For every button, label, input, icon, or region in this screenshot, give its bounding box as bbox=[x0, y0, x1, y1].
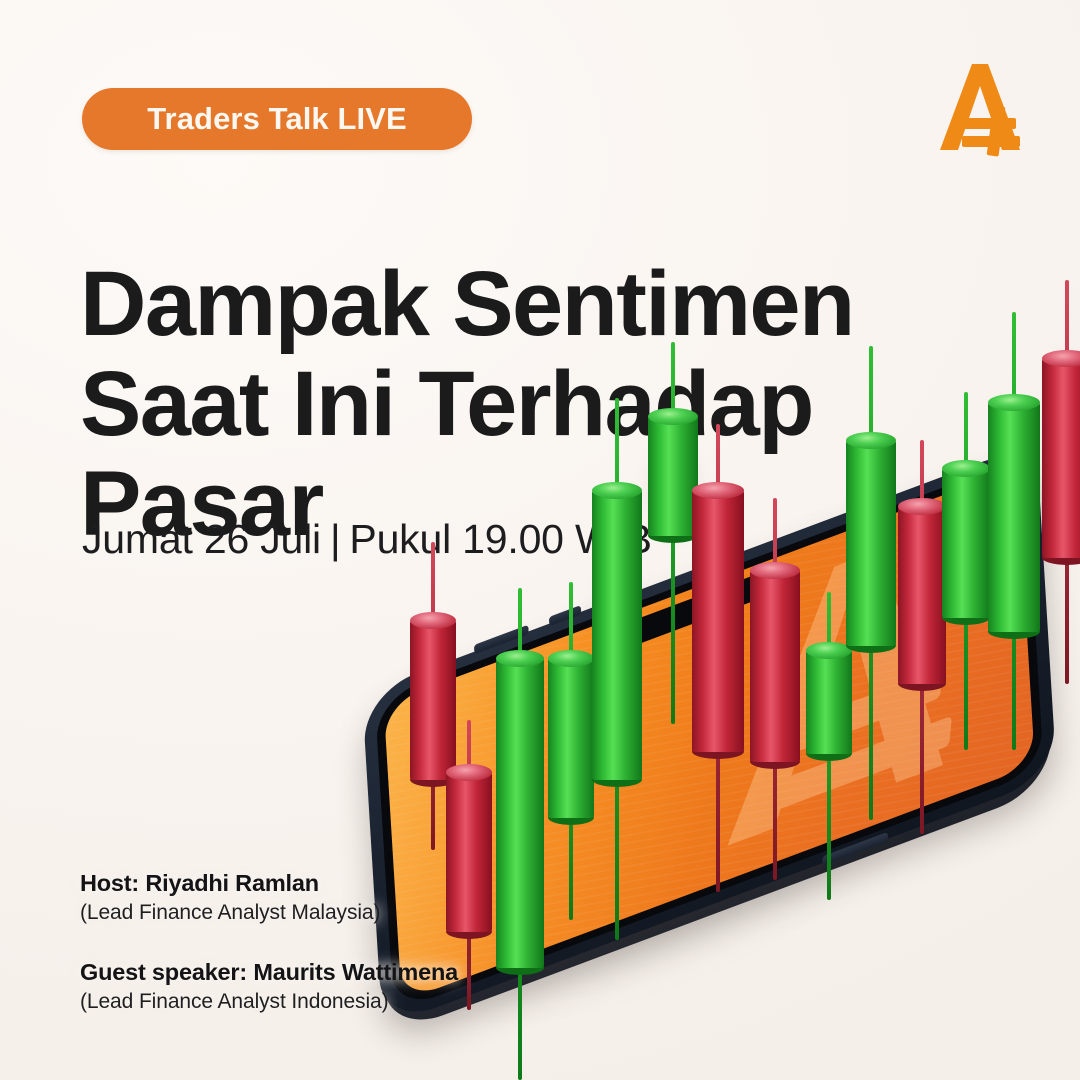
candlestick-side bbox=[988, 402, 1040, 632]
candlestick-body bbox=[548, 658, 594, 818]
candlestick-body bbox=[846, 440, 896, 646]
candlestick-cap bbox=[898, 498, 946, 515]
live-badge-label: Traders Talk LIVE bbox=[147, 101, 407, 137]
candlestick-cap bbox=[496, 650, 544, 667]
candlestick-body bbox=[988, 402, 1040, 632]
credit-role: (Lead Finance Analyst Indonesia) bbox=[80, 988, 458, 1016]
credit-host: Host: Riyadhi Ramlan (Lead Finance Analy… bbox=[80, 868, 458, 927]
credit-name: Guest speaker: Maurits Wattimena bbox=[80, 957, 458, 987]
candlestick-cap bbox=[592, 482, 642, 499]
candlestick-body bbox=[750, 570, 800, 762]
candlestick-side bbox=[410, 620, 456, 780]
candlestick-side bbox=[942, 468, 990, 618]
candlestick-cap bbox=[446, 764, 492, 781]
candlestick-body bbox=[1042, 358, 1080, 558]
candlestick-cap bbox=[548, 650, 594, 667]
candlestick-body bbox=[806, 650, 852, 754]
candlestick-side bbox=[496, 658, 544, 968]
credit-name: Host: Riyadhi Ramlan bbox=[80, 868, 458, 898]
candlestick-side bbox=[648, 416, 698, 536]
candlestick-side bbox=[846, 440, 896, 646]
candlestick-side bbox=[1042, 358, 1080, 558]
candlestick-body bbox=[898, 506, 946, 684]
candlestick-body bbox=[410, 620, 456, 780]
candlestick-side bbox=[750, 570, 800, 762]
promo-poster: Traders Talk LIVE Dampak Sentimen Saat I… bbox=[0, 0, 1080, 1080]
candlestick-side bbox=[898, 506, 946, 684]
candlestick-side bbox=[692, 490, 744, 752]
candlestick-body bbox=[692, 490, 744, 752]
candlestick-body bbox=[592, 490, 642, 780]
candlestick-cap bbox=[942, 460, 990, 477]
candlestick-cap bbox=[846, 432, 896, 449]
candlestick-cap bbox=[750, 562, 800, 579]
candlestick-body bbox=[648, 416, 698, 536]
schedule-date: Jumat 26 Juli bbox=[82, 516, 321, 562]
credit-role: (Lead Finance Analyst Malaysia) bbox=[80, 899, 458, 927]
candlestick-body bbox=[496, 658, 544, 968]
candlestick-side bbox=[806, 650, 852, 754]
candlestick-cap bbox=[648, 408, 698, 425]
credit-guest-speaker: Guest speaker: Maurits Wattimena (Lead F… bbox=[80, 957, 458, 1016]
candlestick-side bbox=[592, 490, 642, 780]
candlestick-cap bbox=[988, 394, 1040, 411]
candlestick-cap bbox=[410, 612, 456, 629]
live-badge[interactable]: Traders Talk LIVE bbox=[82, 88, 472, 150]
credits-block: Host: Riyadhi Ramlan (Lead Finance Analy… bbox=[80, 868, 458, 1016]
candlestick-body bbox=[942, 468, 990, 618]
brand-a-logo-icon bbox=[932, 58, 1028, 158]
candlestick-cap bbox=[692, 482, 744, 499]
candlestick-side bbox=[548, 658, 594, 818]
